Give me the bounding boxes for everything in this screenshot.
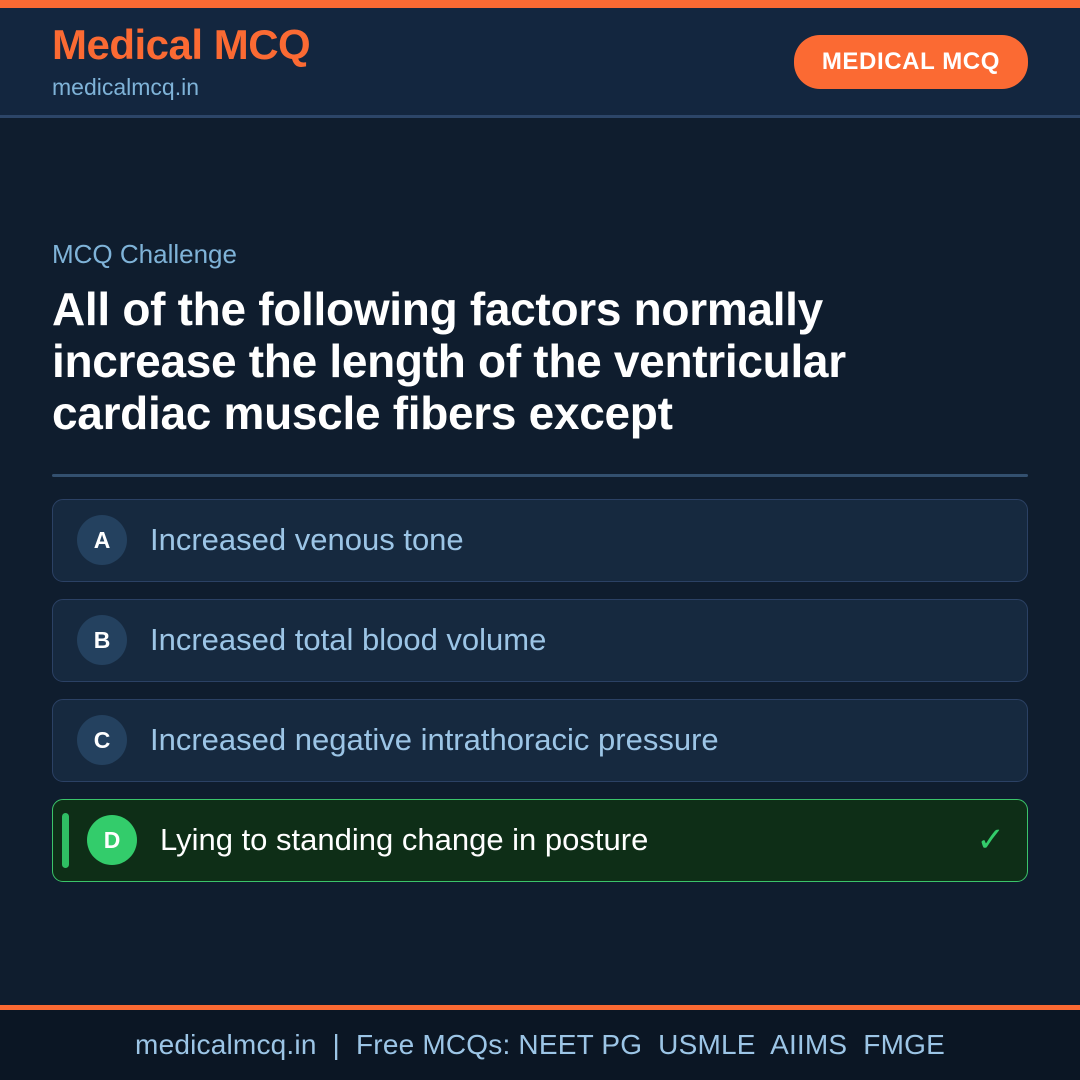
option-d[interactable]: D Lying to standing change in posture ✓: [52, 799, 1028, 882]
top-accent-bar: [0, 0, 1080, 8]
mcq-card: Medical MCQ medicalmcq.in MEDICAL MCQ MC…: [0, 0, 1080, 1080]
option-a[interactable]: A Increased venous tone: [52, 499, 1028, 582]
option-c[interactable]: C Increased negative intrathoracic press…: [52, 699, 1028, 782]
option-letter-badge: B: [77, 615, 127, 665]
option-letter-badge: D: [87, 815, 137, 865]
option-letter-badge: A: [77, 515, 127, 565]
header: Medical MCQ medicalmcq.in MEDICAL MCQ: [0, 8, 1080, 118]
header-badge: MEDICAL MCQ: [794, 35, 1028, 89]
question-text: All of the following factors normally in…: [52, 283, 992, 440]
option-label: Increased negative intrathoracic pressur…: [150, 723, 1005, 757]
question-block: MCQ Challenge All of the following facto…: [52, 118, 1028, 440]
eyebrow-label: MCQ Challenge: [52, 240, 1028, 269]
main-content: MCQ Challenge All of the following facto…: [0, 118, 1080, 1005]
brand-title: Medical MCQ: [52, 24, 310, 66]
option-label: Increased total blood volume: [150, 623, 1005, 657]
brand-subtitle: medicalmcq.in: [52, 76, 310, 99]
footer: medicalmcq.in | Free MCQs: NEET PG USMLE…: [0, 1005, 1080, 1080]
option-label: Lying to standing change in posture: [160, 823, 963, 857]
brand: Medical MCQ medicalmcq.in: [52, 24, 310, 99]
checkmark-icon: ✓: [977, 823, 1006, 857]
option-b[interactable]: B Increased total blood volume: [52, 599, 1028, 682]
footer-text: medicalmcq.in | Free MCQs: NEET PG USMLE…: [135, 1029, 945, 1061]
correct-accent-bar: [62, 813, 69, 868]
section-divider: [52, 474, 1028, 477]
option-letter-badge: C: [77, 715, 127, 765]
option-label: Increased venous tone: [150, 523, 1005, 557]
options-list: A Increased venous tone B Increased tota…: [52, 499, 1028, 882]
